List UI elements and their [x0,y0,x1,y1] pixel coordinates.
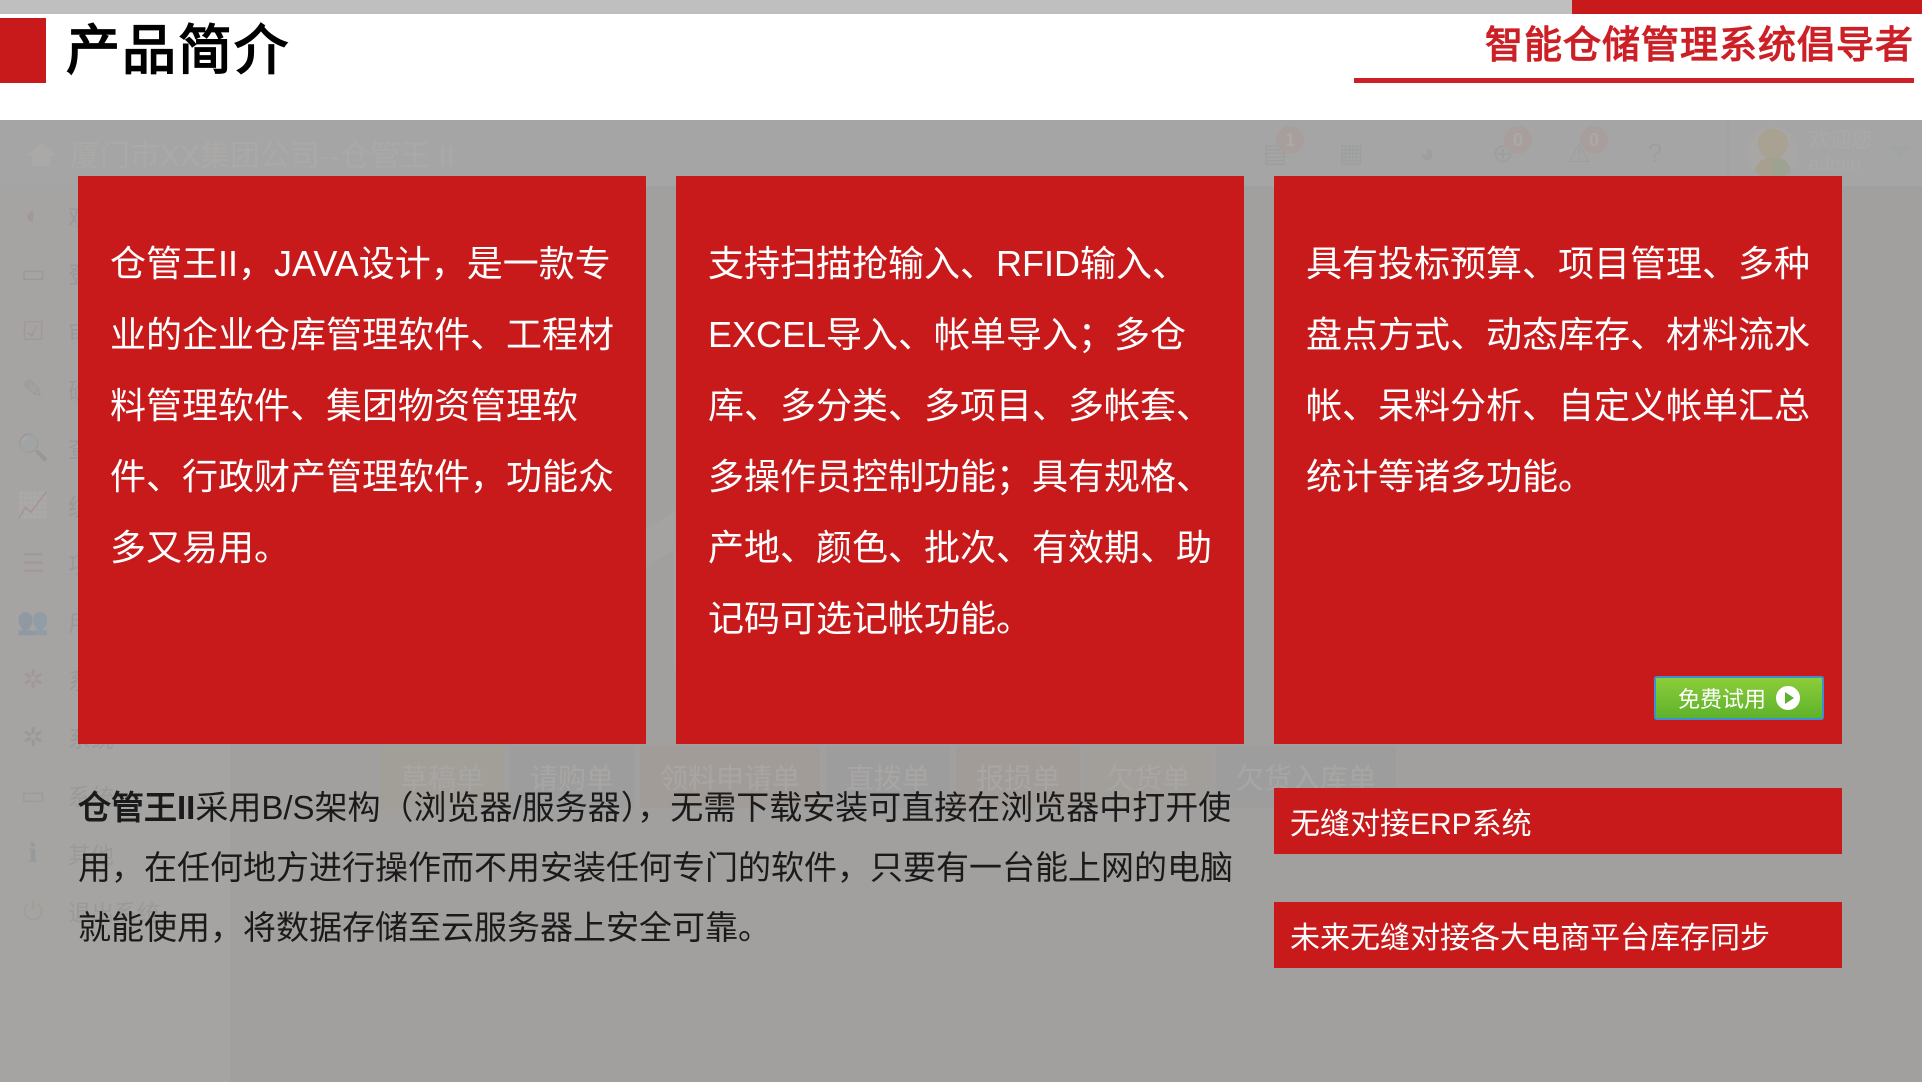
monitor-icon: ▭ [16,780,50,810]
chat-icon[interactable]: ◕ [1410,138,1444,168]
user-name: admin [1809,153,1872,177]
callout-box-3: 具有投标预算、项目管理、多种盘点方式、动态库存、材料流水帐、呆料分析、自定义帐单… [1274,176,1842,744]
free-trial-button[interactable]: 免费试用 [1654,676,1824,720]
info-icon: ℹ [16,838,50,868]
check-box-icon: ☑ [16,316,50,346]
avatar [1747,127,1799,179]
welcome-label: 欢迎您 admin [1809,129,1872,177]
callout-box-1: 仓管王II，JAVA设计，是一款专业的企业仓库管理软件、工程材料管理软件、集团物… [78,176,646,744]
callout-text-3: 具有投标预算、项目管理、多种盘点方式、动态库存、材料流水帐、呆料分析、自定义帐单… [1306,228,1814,512]
gauge-icon: ◐ [16,200,50,230]
slide-root: 产品简介 智能仓储管理系统倡导者 厦门市XX集团公司--仓管王 II ▤1 ▦ … [0,0,1922,1082]
header-grey-bar [0,0,1700,14]
callout-text-1: 仓管王II，JAVA设计，是一款专业的企业仓库管理软件、工程材料管理软件、集团物… [110,228,616,583]
search-icon: 🔍 [16,432,50,462]
header-red-square [0,18,46,83]
power-icon: ⏻ [16,896,50,926]
home-icon[interactable] [26,139,56,167]
tag-label: 无缝对接ERP系统 [1290,799,1532,843]
play-icon [1776,686,1800,710]
calendar-icon[interactable]: ▦ [1334,138,1368,168]
add-badge: 0 [1504,126,1532,154]
welcome-text: 欢迎您 [1809,129,1872,152]
gear-icon: ✲ [16,664,50,694]
page-title: 产品简介 [66,18,290,84]
alert-badge: 0 [1580,126,1608,154]
tag-label: 未来无缝对接各大电商平台库存同步 [1290,913,1770,957]
monitor-icon: ▭ [16,258,50,288]
header-slogan: 智能仓储管理系统倡导者 [1485,22,1914,70]
edit-icon: ✎ [16,374,50,404]
alert-icon[interactable]: ⚠0 [1562,138,1596,168]
free-trial-label: 免费试用 [1678,682,1766,714]
callout-box-2: 支持扫描抢输入、RFID输入、EXCEL导入、帐单导入；多仓库、多分类、多项目、… [676,176,1244,744]
add-icon[interactable]: ⊕0 [1486,138,1520,168]
app-title: 厦门市XX集团公司--仓管王 II [70,131,455,175]
bottom-paragraph-body: 采用B/S架构（浏览器/服务器），无需下载安装可直接在浏览器中打开使用，在任何地… [78,789,1233,946]
tag-ecommerce-sync: 未来无缝对接各大电商平台库存同步 [1274,902,1842,968]
chart-icon: 📈 [16,490,50,520]
callout-text-2: 支持扫描抢输入、RFID输入、EXCEL导入、帐单导入；多仓库、多分类、多项目、… [708,228,1216,654]
chevron-down-icon[interactable] [1888,146,1912,160]
list-badge: 1 [1276,126,1304,154]
gear-icon: ✲ [16,722,50,752]
help-icon[interactable]: ? [1638,138,1672,168]
list-icon: ☰ [16,548,50,578]
users-icon: 👥 [16,606,50,636]
bottom-paragraph: 仓管王II采用B/S架构（浏览器/服务器），无需下载安装可直接在浏览器中打开使用… [78,778,1248,958]
list-icon[interactable]: ▤1 [1258,138,1292,168]
tag-erp-integration: 无缝对接ERP系统 [1274,788,1842,854]
bottom-paragraph-lead: 仓管王II [78,789,195,826]
header-slogan-underline [1354,78,1914,83]
header-red-bar [1572,0,1922,14]
